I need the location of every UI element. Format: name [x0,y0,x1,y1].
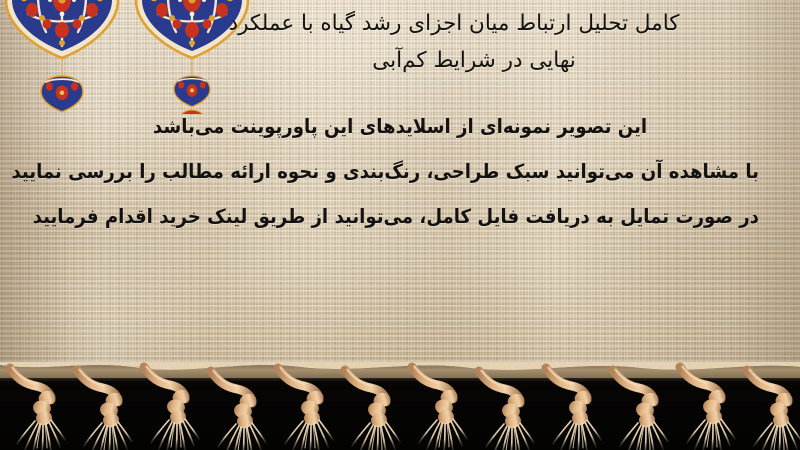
slide-title: کامل تحلیل ارتباط میان اجزای رشد گیاه با… [134,5,774,79]
fringe-tassels [0,362,800,450]
slide-title-line-2: نهایی در شرایط کم‌آبی [134,42,800,79]
slide-canvas: کامل تحلیل ارتباط میان اجزای رشد گیاه با… [0,0,800,450]
body-line-1: این تصویر نمونه‌ای از اسلایدهای این پاور… [41,104,759,149]
slide-body-text: این تصویر نمونه‌ای از اسلایدهای این پاور… [14,104,786,239]
body-line-2: با مشاهده آن می‌توانید سبک طراحی، رنگ‌بن… [41,149,759,194]
slide-title-line-1: کامل تحلیل ارتباط میان اجزای رشد گیاه با… [134,5,774,42]
carpet-knotted-fringe [0,362,800,450]
body-line-3: در صورت تمایل به دریافت فایل کامل، می‌تو… [41,194,759,239]
